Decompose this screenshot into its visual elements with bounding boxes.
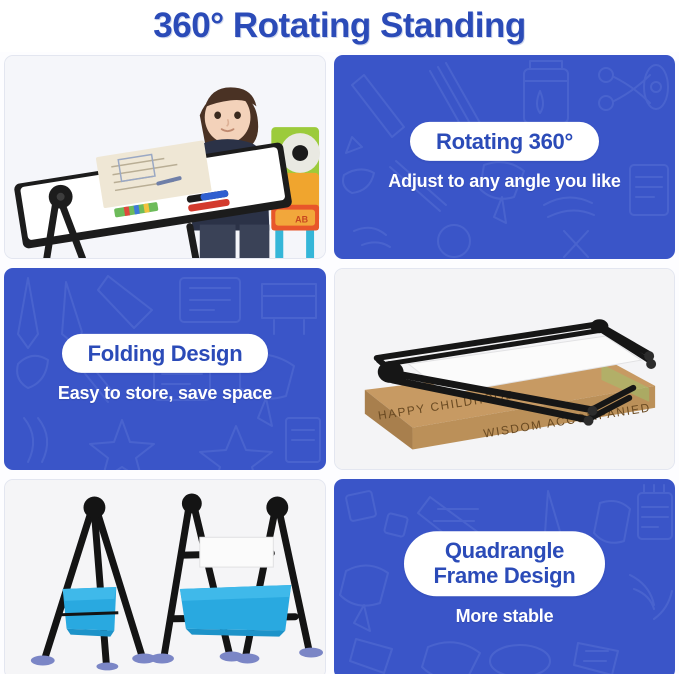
folded-easel-on-box-illustration: HAPPY CHILDHOOD WISDOM ACCOMPANIED — [335, 269, 674, 469]
feature-quadrangle-subtitle: More stable — [456, 606, 554, 627]
frame-comparison-illustration — [5, 480, 325, 674]
feature-quadrangle-pill-line-1: Quadrangle — [445, 538, 564, 563]
feature-rotating-subtitle: Adjust to any angle you like — [388, 171, 620, 192]
panel-feature-rotating: Rotating 360° Adjust to any angle you li… — [334, 55, 675, 259]
feature-folding-pill: Folding Design — [62, 334, 269, 373]
feature-folding-subtitle: Easy to store, save space — [58, 383, 272, 404]
feature-quadrangle-pill: Quadrangle Frame Design — [404, 531, 606, 596]
feature-folding-caption: Folding Design Easy to store, save space — [4, 334, 326, 404]
feature-panel-grid: AB — [4, 55, 675, 670]
panel-feature-folding: Folding Design Easy to store, save space — [4, 268, 326, 470]
panel-photo-child-drawing: AB — [4, 55, 326, 259]
feature-quadrangle-caption: Quadrangle Frame Design More stable — [334, 531, 675, 627]
page-title-bar: 360° Rotating Standing — [0, 0, 679, 52]
feature-rotating-pill: Rotating 360° — [410, 122, 599, 161]
panel-feature-quadrangle: Quadrangle Frame Design More stable — [334, 479, 675, 674]
page-title: 360° Rotating Standing — [153, 6, 525, 46]
feature-rotating-caption: Rotating 360° Adjust to any angle you li… — [334, 122, 675, 192]
infographic-page: 360° Rotating Standing AB — [0, 0, 679, 674]
feature-quadrangle-pill-line-2: Frame Design — [434, 564, 576, 589]
panel-photo-folded-box: HAPPY CHILDHOOD WISDOM ACCOMPANIED — [334, 268, 675, 470]
svg-text:AB: AB — [295, 215, 308, 225]
child-drawing-illustration: AB — [5, 56, 325, 258]
panel-photo-frame-comparison — [4, 479, 326, 674]
